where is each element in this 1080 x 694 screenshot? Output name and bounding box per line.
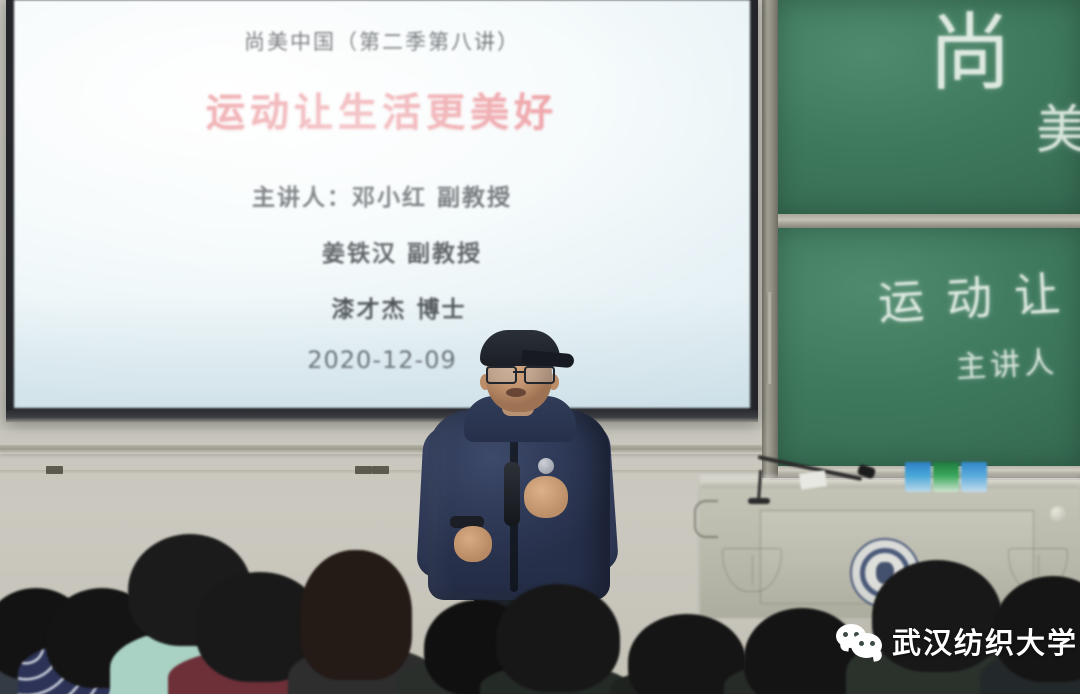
audience-head	[496, 584, 620, 692]
wechat-eye	[859, 641, 864, 646]
wechat-eye	[843, 632, 848, 637]
watermark: 武汉纺织大学	[836, 620, 1078, 662]
wechat-icon	[836, 624, 882, 658]
lecture-scene: 尚 美 运动让 主讲人 尚美中国（第二季第八讲） 运动让生活更美好 主讲人：邓小…	[0, 0, 1080, 694]
audience-group	[0, 0, 1080, 694]
wechat-bubble-small	[851, 633, 882, 658]
audience-head	[300, 550, 412, 680]
wechat-eye	[870, 641, 875, 646]
watermark-label: 武汉纺织大学	[892, 620, 1078, 662]
